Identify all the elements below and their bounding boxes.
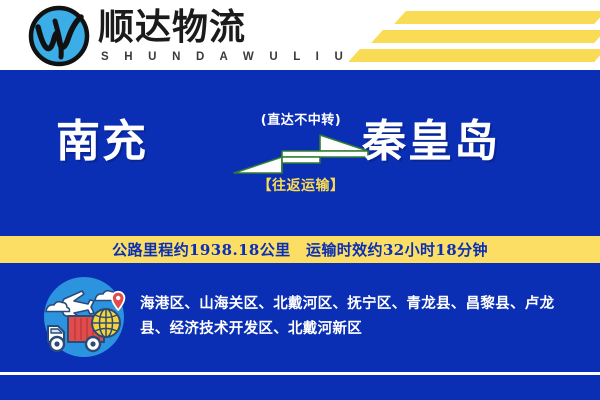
stripe-2 (371, 30, 600, 43)
brand-wordmark: 顺达物流 S H U N D A W U L I U (98, 8, 349, 64)
destination-city: 秦皇岛 (362, 116, 500, 168)
route-row: 南充 (直达不中转) 【往返运输】 秦皇岛 (0, 70, 600, 236)
swoosh-circle-logo-icon (28, 5, 90, 67)
direct-route-note: (直达不中转) (228, 112, 374, 130)
coverage-districts-text: 海港区、山海关区、北戴河区、抚宁区、青龙县、昌黎县、卢龙县、经济技术开发区、北戴… (140, 292, 578, 342)
logistics-truck-globe-plane-icon (38, 274, 130, 360)
round-trip-note: 【往返运输】 (228, 177, 374, 196)
bottom-strip (0, 375, 600, 400)
distance-duration-band: 公路里程约1938.18公里 运输时效约32小时18分钟 (0, 236, 600, 263)
logistics-route-banner: 顺达物流 S H U N D A W U L I U 南充 (直达不中转) (0, 0, 600, 400)
distance-duration-text: 公路里程约1938.18公里 运输时效约32小时18分钟 (112, 240, 488, 260)
brand-logo: 顺达物流 S H U N D A W U L I U (28, 5, 349, 67)
main-body: 南充 (直达不中转) 【往返运输】 秦皇岛 公路里程约1938.18公 (0, 70, 600, 400)
origin-city: 南充 (56, 116, 148, 168)
stripe-1 (394, 11, 600, 24)
brand-name-en: S H U N D A W U L I U (101, 50, 349, 64)
brand-name-cn: 顺达物流 (98, 8, 349, 48)
decorative-stripes (340, 0, 600, 70)
route-middle: (直达不中转) 【往返运输】 (228, 112, 374, 196)
header: 顺达物流 S H U N D A W U L I U (0, 0, 600, 70)
coverage-row: 海港区、山海关区、北戴河区、抚宁区、青龙县、昌黎县、卢龙县、经济技术开发区、北戴… (0, 263, 600, 371)
double-headed-arrow-icon (228, 134, 374, 174)
stripe-3 (348, 49, 600, 62)
